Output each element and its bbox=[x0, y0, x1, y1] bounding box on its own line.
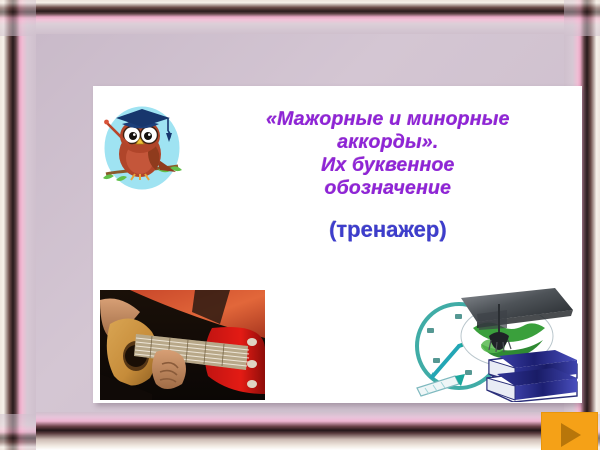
play-next-button[interactable] bbox=[541, 412, 598, 450]
play-triangle-icon bbox=[555, 420, 585, 450]
slide-content-board: «Мажорные и минорные аккорды». Их буквен… bbox=[93, 86, 582, 403]
frame-corner-bottom-left bbox=[0, 414, 36, 450]
title-line-1: «Мажорные и минорные bbox=[213, 108, 563, 131]
guitar-playing-photo bbox=[100, 290, 265, 400]
frame-border-top bbox=[0, 0, 600, 34]
owl-professor-clipart bbox=[100, 100, 184, 192]
education-clipart bbox=[403, 284, 578, 402]
frame-border-left bbox=[0, 0, 36, 450]
title-line-4: обозначение bbox=[213, 177, 563, 200]
presentation-slide: «Мажорные и минорные аккорды». Их буквен… bbox=[0, 0, 600, 450]
frame-corner-top-right bbox=[564, 0, 600, 36]
frame-border-bottom bbox=[0, 412, 600, 450]
slide-mat: «Мажорные и минорные аккорды». Их буквен… bbox=[36, 34, 564, 412]
title-line-2: аккорды». bbox=[213, 131, 563, 154]
slide-title-block: «Мажорные и минорные аккорды». Их буквен… bbox=[213, 108, 563, 243]
title-line-3: Их буквенное bbox=[213, 154, 563, 177]
frame-corner-top-left bbox=[0, 0, 36, 36]
slide-subtitle: (тренажер) bbox=[213, 217, 563, 243]
